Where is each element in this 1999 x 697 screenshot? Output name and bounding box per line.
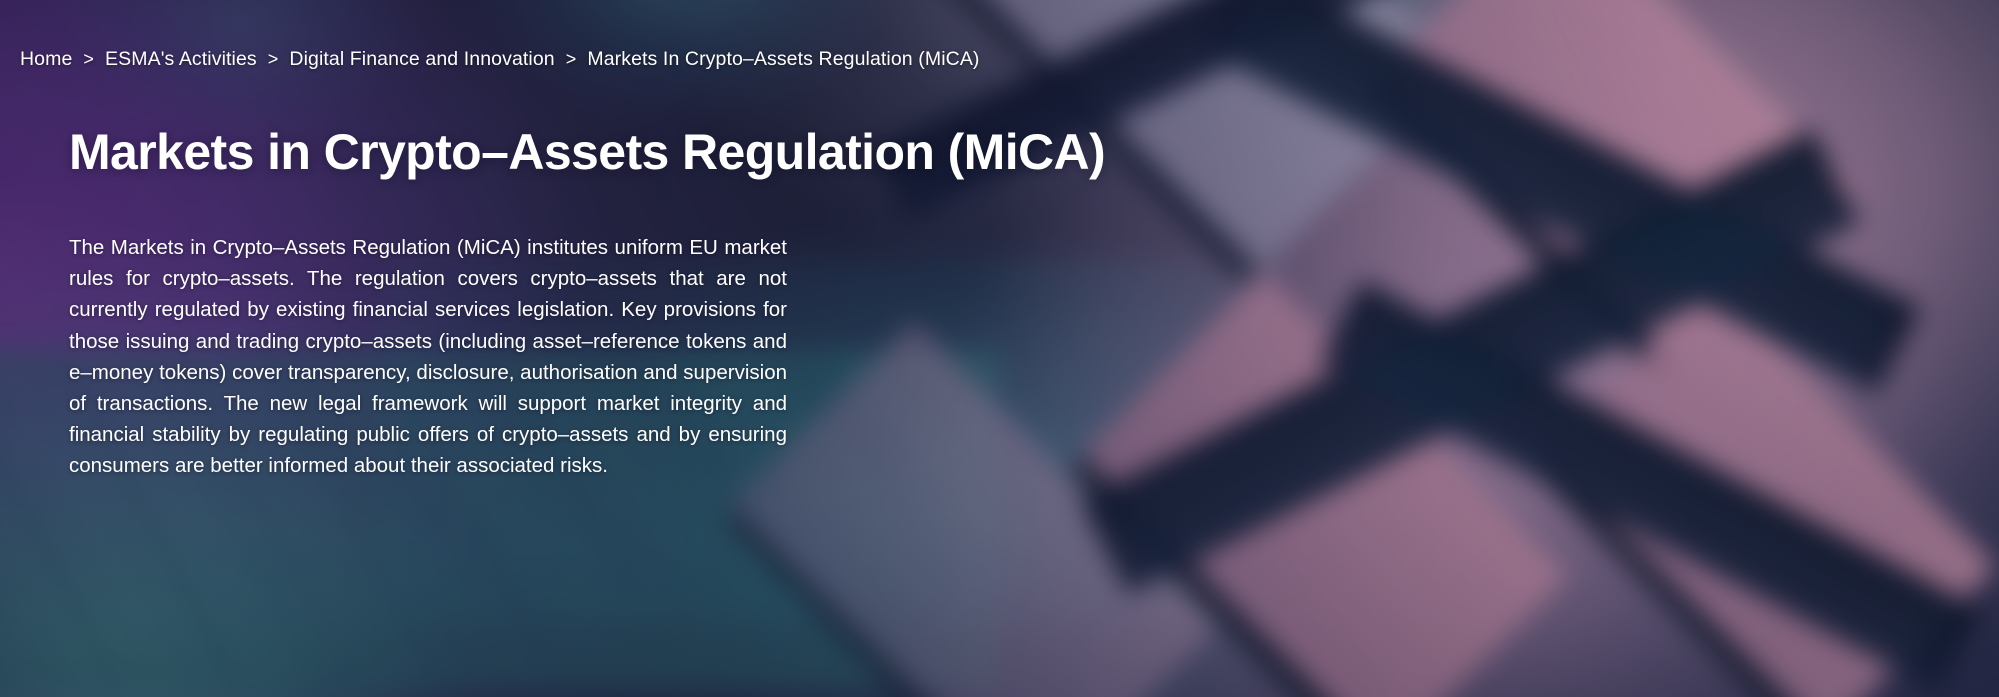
breadcrumb-item-home[interactable]: Home [20,48,72,71]
hero-banner: Home > ESMA's Activities > Digital Finan… [0,0,1999,697]
page-title: Markets in Crypto–Assets Regulation (MiC… [69,124,1105,182]
breadcrumb-item-digital-finance-and-innovation[interactable]: Digital Finance and Innovation [289,48,554,71]
breadcrumb-item-current: Markets In Crypto–Assets Regulation (MiC… [587,48,979,71]
page-intro-paragraph: The Markets in Crypto–Assets Regulation … [69,232,787,482]
breadcrumb-separator-icon: > [83,49,94,71]
breadcrumb: Home > ESMA's Activities > Digital Finan… [20,48,980,71]
breadcrumb-item-esmas-activities[interactable]: ESMA's Activities [105,48,257,71]
breadcrumb-separator-icon: > [566,49,577,71]
hero-content: Home > ESMA's Activities > Digital Finan… [0,0,1999,697]
breadcrumb-separator-icon: > [268,49,279,71]
